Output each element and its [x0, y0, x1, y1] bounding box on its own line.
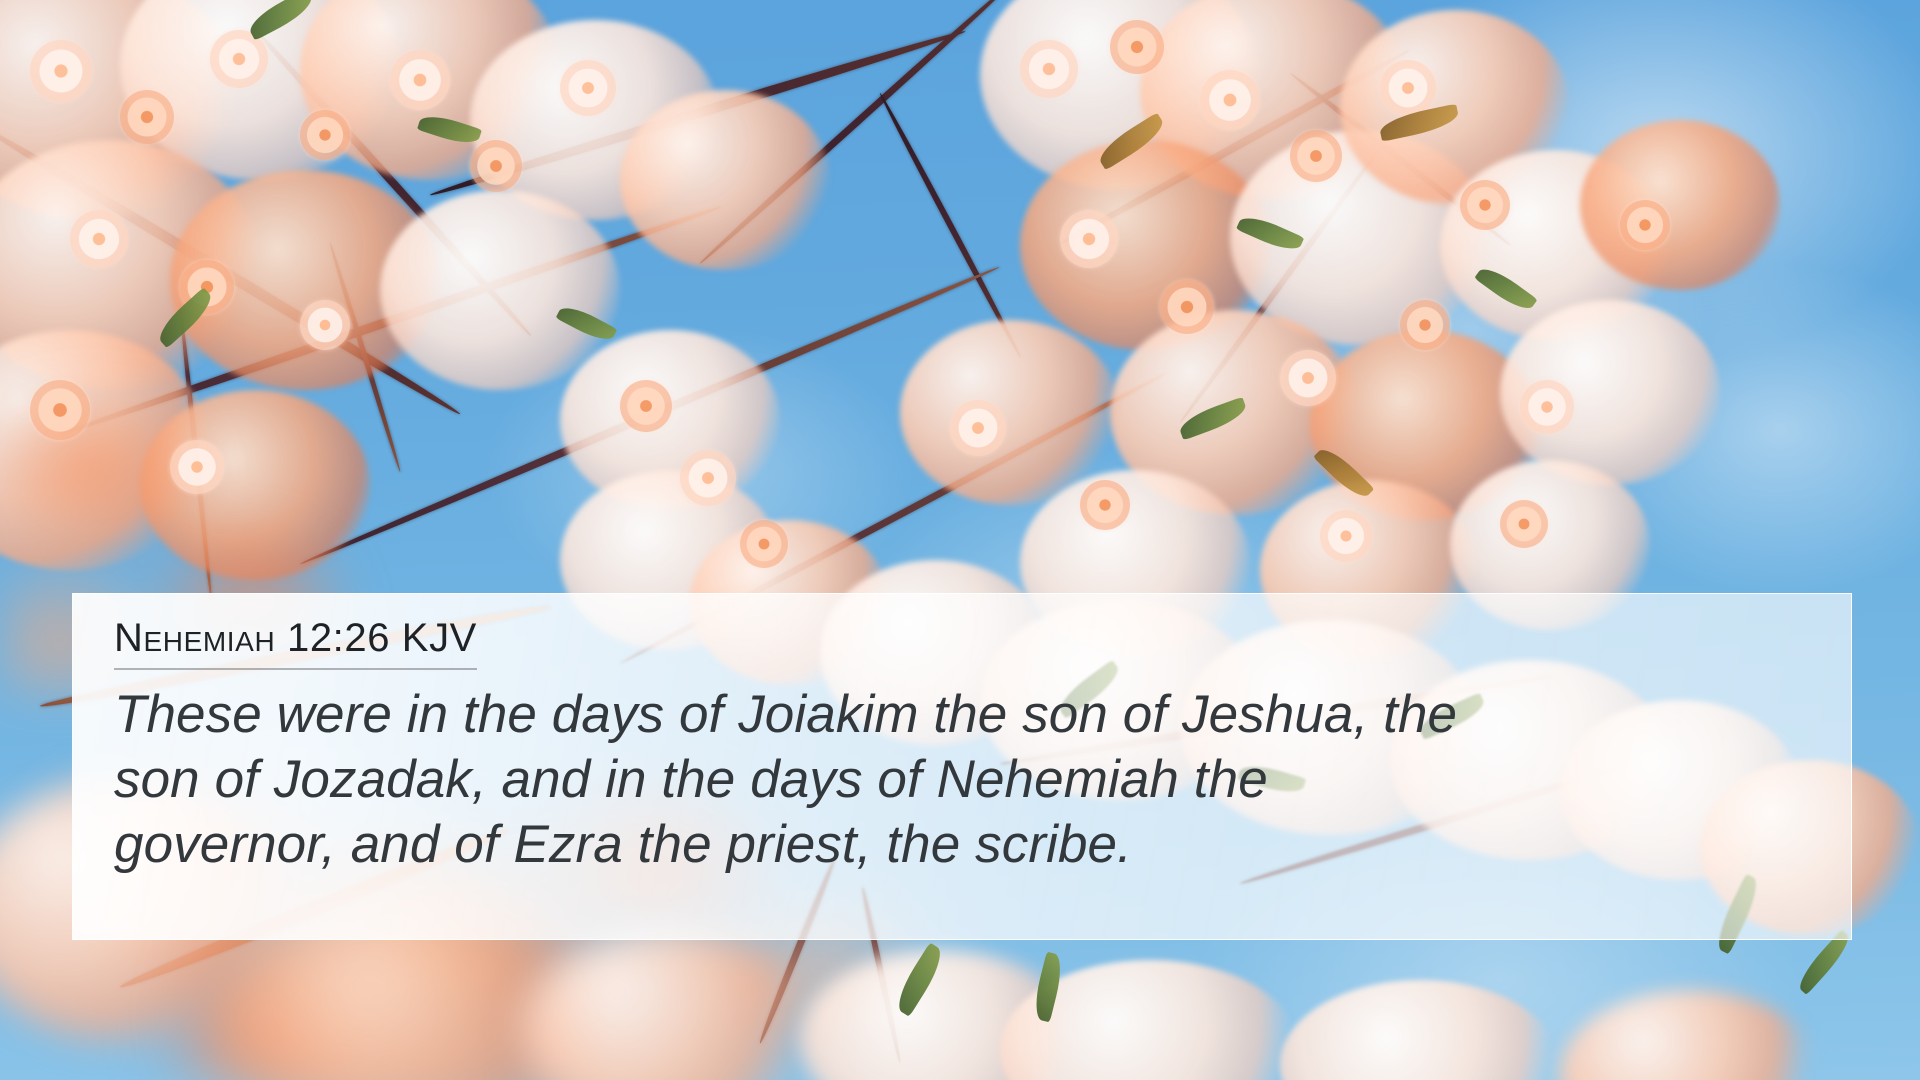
- verse-overlay-panel: Nehemiah 12:26 KJV These were in the day…: [72, 593, 1852, 940]
- verse-wallpaper: Nehemiah 12:26 KJV These were in the day…: [0, 0, 1920, 1080]
- verse-text: These were in the days of Joiakim the so…: [114, 682, 1811, 877]
- verse-citation: Nehemiah 12:26 KJV: [114, 616, 477, 670]
